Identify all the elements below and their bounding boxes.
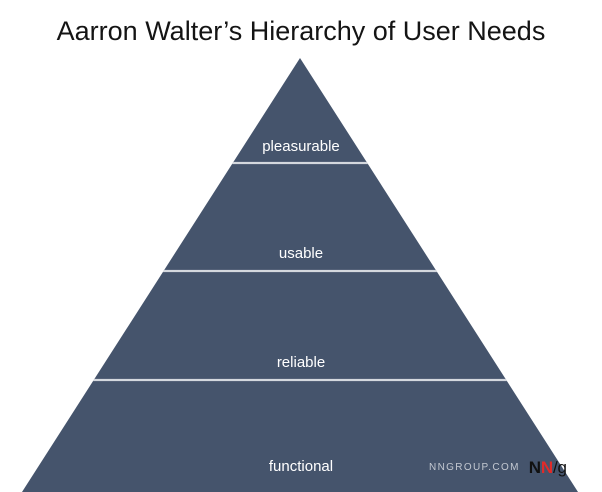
tier-label-reliable: reliable <box>0 354 602 372</box>
pyramid-diagram: pleasurable usable reliable functional <box>0 0 602 492</box>
nng-logomark: NN/g <box>529 458 567 478</box>
tier-label-pleasurable: pleasurable <box>0 138 602 156</box>
nng-logomark-n2: N <box>541 458 553 478</box>
divider-pleasurable <box>0 162 602 164</box>
nngroup-site-url: NNGROUP.COM <box>429 458 520 478</box>
tier-label-usable: usable <box>0 245 602 263</box>
pyramid-body <box>22 58 578 492</box>
divider-usable <box>0 270 602 272</box>
slide-canvas: Aarron Walter’s Hierarchy of User Needs … <box>0 0 602 492</box>
nng-logomark-slash-g: /g <box>553 458 567 478</box>
divider-reliable <box>0 379 602 381</box>
nngroup-logo: NNGROUP.COM NN/g <box>429 458 567 478</box>
nng-logomark-n1: N <box>529 458 541 478</box>
